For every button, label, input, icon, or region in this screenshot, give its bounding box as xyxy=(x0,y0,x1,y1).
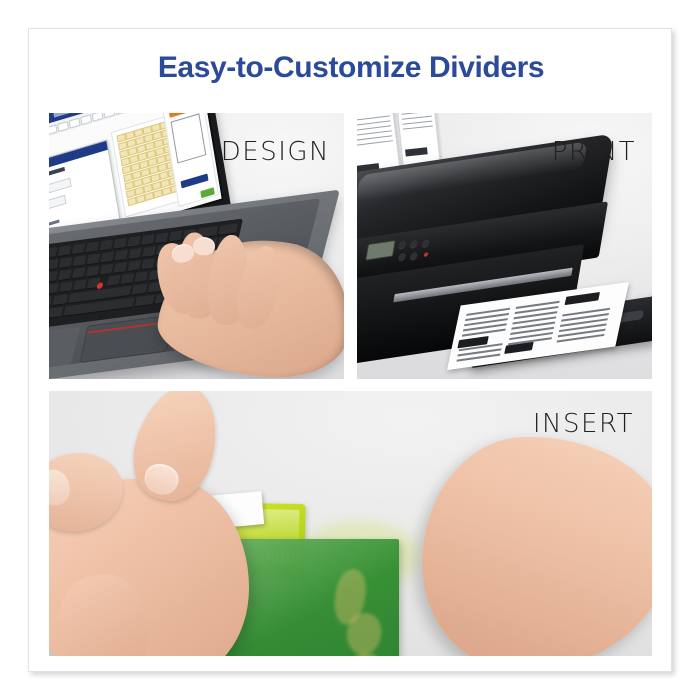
sidebar-blue-bar xyxy=(181,173,209,188)
trackpoint-nub[interactable] xyxy=(96,282,103,289)
printer-button-scan[interactable] xyxy=(421,239,429,247)
screenshot-root: Easy-to-Customize Dividers xyxy=(0,0,700,700)
sidebar-sheet-thumb xyxy=(171,113,207,163)
left-index-finger xyxy=(52,569,156,656)
panel-label-print: PRINT xyxy=(552,139,636,165)
panel-label-insert: INSERT xyxy=(533,411,634,437)
printer-button-copy[interactable] xyxy=(410,240,418,248)
page-title: Easy-to-Customize Dividers xyxy=(29,51,673,85)
palm-rest-left xyxy=(49,327,80,377)
content-card: Easy-to-Customize Dividers xyxy=(28,28,672,672)
left-thumbnail xyxy=(141,460,182,498)
right-thumbnail xyxy=(49,467,73,508)
right-hand xyxy=(422,437,652,656)
printer-button-power[interactable] xyxy=(398,240,406,248)
panel-print: PRINT xyxy=(357,113,652,379)
panel-design: DESIGN xyxy=(49,113,344,379)
panel-insert: FINANCE INSERT xyxy=(49,391,652,656)
modal-title xyxy=(49,167,65,178)
printer-status-led xyxy=(424,252,429,257)
modal-header xyxy=(49,141,108,181)
printer-button-ok[interactable] xyxy=(410,252,418,260)
printer-lcd-display xyxy=(365,240,395,261)
panel-label-design: DESIGN xyxy=(221,139,330,165)
printer-button-menu[interactable] xyxy=(398,253,406,261)
